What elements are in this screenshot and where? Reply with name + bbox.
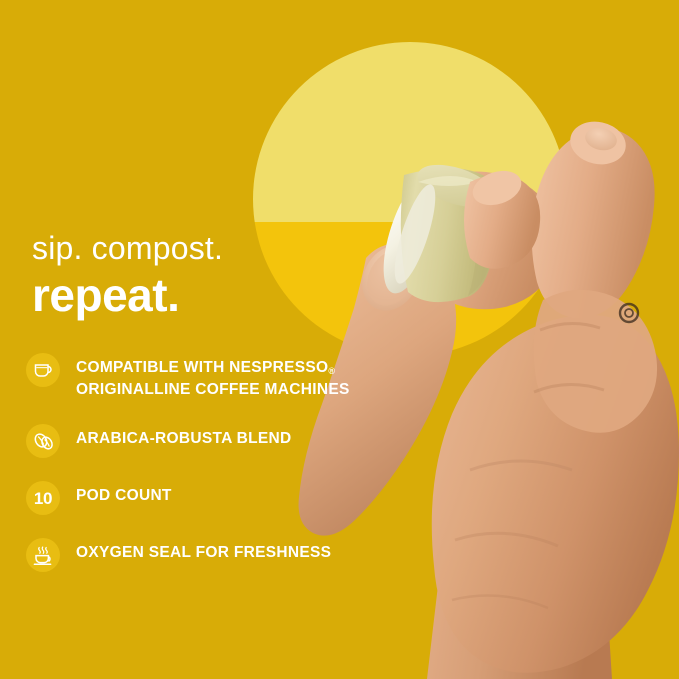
coffee-cup-icon (26, 353, 60, 387)
coffee-beans-icon (26, 424, 60, 458)
product-feature-image: sip. compost. repeat. COMPATIBLE WITH NE… (0, 0, 679, 679)
circle-upper-half (253, 42, 567, 222)
pod-count-badge: 10 (26, 481, 60, 515)
registered-trademark-symbol: ® (328, 366, 335, 376)
feature-label-pod-count: POD COUNT (76, 480, 172, 507)
headline-line-2: repeat. (32, 270, 372, 322)
tattoo-mark (620, 304, 638, 322)
feature-item-blend: ARABICA-ROBUSTA BLEND (26, 423, 386, 458)
feature-label-part1: COMPATIBLE WITH NESPRESSO (76, 359, 328, 376)
feature-list: COMPATIBLE WITH NESPRESSO® ORIGINALLINE … (26, 352, 386, 572)
feature-item-oxygen-seal: OXYGEN SEAL FOR FRESHNESS (26, 537, 386, 572)
feature-label-blend: ARABICA-ROBUSTA BLEND (76, 423, 292, 450)
feature-label-compatibility: COMPATIBLE WITH NESPRESSO® ORIGINALLINE … (76, 352, 376, 401)
feature-label-oxygen-seal: OXYGEN SEAL FOR FRESHNESS (76, 537, 331, 564)
feature-item-pod-count: 10 POD COUNT (26, 480, 386, 515)
headline-block: sip. compost. repeat. (32, 232, 372, 321)
headline-line-1: sip. compost. (32, 232, 372, 266)
pod-count-value: 10 (34, 490, 52, 507)
feature-item-compatibility: COMPATIBLE WITH NESPRESSO® ORIGINALLINE … (26, 352, 386, 401)
feature-label-part2: ORIGINALLINE COFFEE MACHINES (76, 381, 350, 398)
steaming-cup-icon (26, 538, 60, 572)
